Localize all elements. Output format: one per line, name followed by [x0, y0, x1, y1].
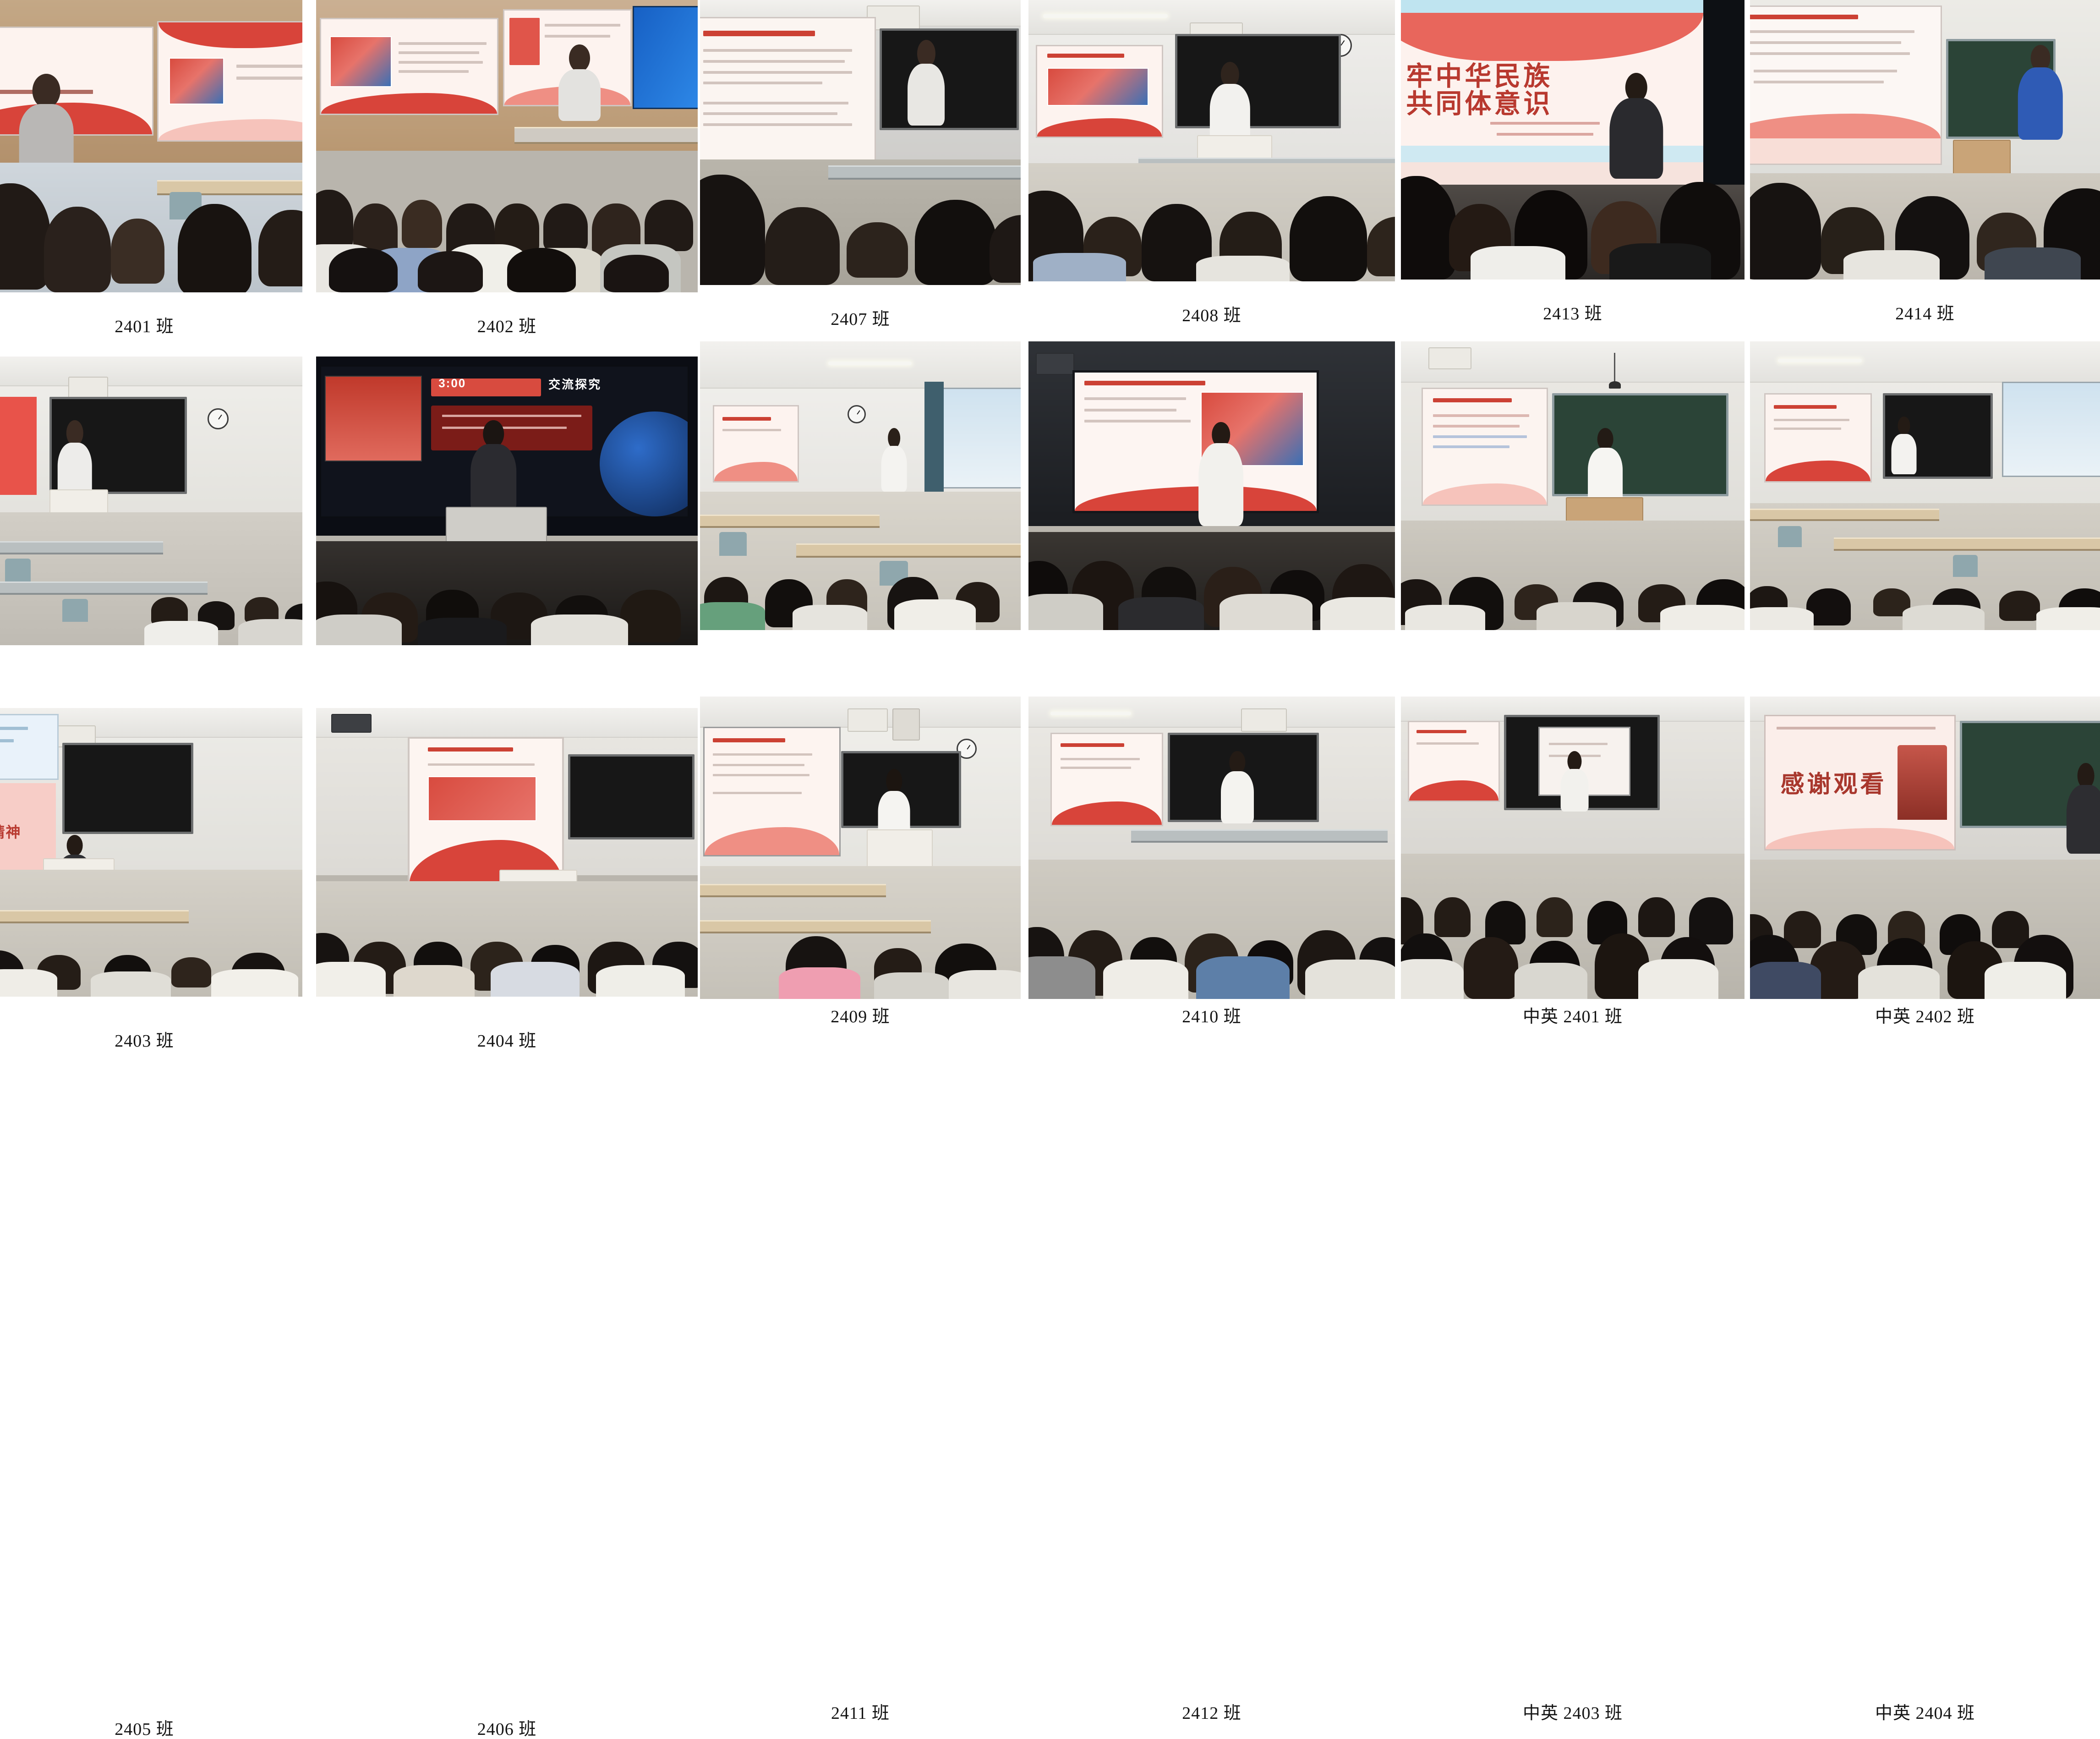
grid-cell: 2409 班	[700, 341, 1021, 630]
classroom-photo	[316, 708, 698, 997]
photo-grid: 2401 班	[0, 0, 2100, 1045]
cell-caption: 2411 班	[700, 1705, 1021, 1722]
grid-cell: 中英 2401 班	[1401, 341, 1745, 630]
cell-caption: 2405 班	[0, 1721, 302, 1738]
cell-caption: 2407 班	[700, 311, 1021, 328]
classroom-photo	[316, 0, 698, 292]
classroom-photo	[0, 0, 302, 292]
cell-caption: 2401 班	[0, 318, 302, 335]
grid-cell: 2414 班	[1750, 0, 2100, 280]
grid-cell: 2406 班	[316, 708, 698, 997]
classroom-photo	[1750, 0, 2100, 280]
classroom-photo	[1028, 697, 1395, 999]
slide-headline-line2: 共同体意识	[1406, 90, 1553, 118]
grid-cell: 交流探究 3:00	[316, 357, 698, 645]
grid-cell: 2408 班	[1028, 0, 1395, 281]
classroom-photo: 国际形势 重要讲话精神	[0, 708, 302, 997]
classroom-photo	[700, 341, 1021, 630]
slide-thanks-text: 感谢观看	[1781, 772, 1887, 797]
cell-caption: 中英 2402 班	[1750, 1008, 2100, 1026]
classroom-photo	[1028, 0, 1395, 281]
grid-cell: 牢中华民族 共同体意识	[1401, 0, 1745, 280]
cell-caption: 2404 班	[316, 1032, 698, 1050]
grid-cell: 2411 班	[700, 697, 1021, 999]
classroom-photo: 感谢观看	[1750, 697, 2100, 999]
grid-cell: 中英 2402 班	[1750, 341, 2100, 630]
grid-cell: 2402 班	[316, 0, 698, 292]
cell-caption: 2413 班	[1401, 305, 1745, 323]
classroom-photo	[1401, 697, 1745, 999]
grid-cell: 中英 2403 班	[1401, 697, 1745, 999]
grid-cell: 2410 班	[1028, 341, 1395, 630]
cell-caption: 中英 2403 班	[1401, 1705, 1745, 1722]
grid-cell: 2401 班	[0, 0, 302, 292]
classroom-photo	[1028, 341, 1395, 630]
grid-cell: 感谢观看	[1750, 697, 2100, 999]
classroom-photo	[700, 697, 1021, 999]
cell-caption: 2409 班	[700, 1008, 1021, 1026]
grid-cell: 国际形势 重要讲话精神	[0, 708, 302, 997]
grid-cell: 华民族 体意识	[0, 357, 302, 645]
classroom-photo	[700, 0, 1021, 285]
cell-caption: 2406 班	[316, 1721, 698, 1738]
classroom-photo: 牢中华民族 共同体意识	[1401, 0, 1745, 280]
cell-caption: 2410 班	[1028, 1008, 1395, 1026]
cell-caption: 中英 2404 班	[1750, 1705, 2100, 1722]
classroom-photo: 华民族 体意识	[0, 357, 302, 645]
cell-caption: 2412 班	[1028, 1705, 1395, 1722]
cell-caption: 2408 班	[1028, 307, 1395, 324]
cell-caption: 2402 班	[316, 318, 698, 335]
cell-caption: 2403 班	[0, 1032, 302, 1050]
grid-cell: 2407 班	[700, 0, 1021, 285]
cell-caption: 中英 2401 班	[1401, 1008, 1745, 1026]
slide-headline-line1: 牢中华民族	[1406, 63, 1553, 91]
classroom-photo	[1401, 341, 1745, 630]
grid-cell: 2412 班	[1028, 697, 1395, 999]
classroom-photo	[1750, 341, 2100, 630]
classroom-photo: 交流探究 3:00	[316, 357, 698, 645]
cell-caption: 2414 班	[1750, 305, 2100, 323]
